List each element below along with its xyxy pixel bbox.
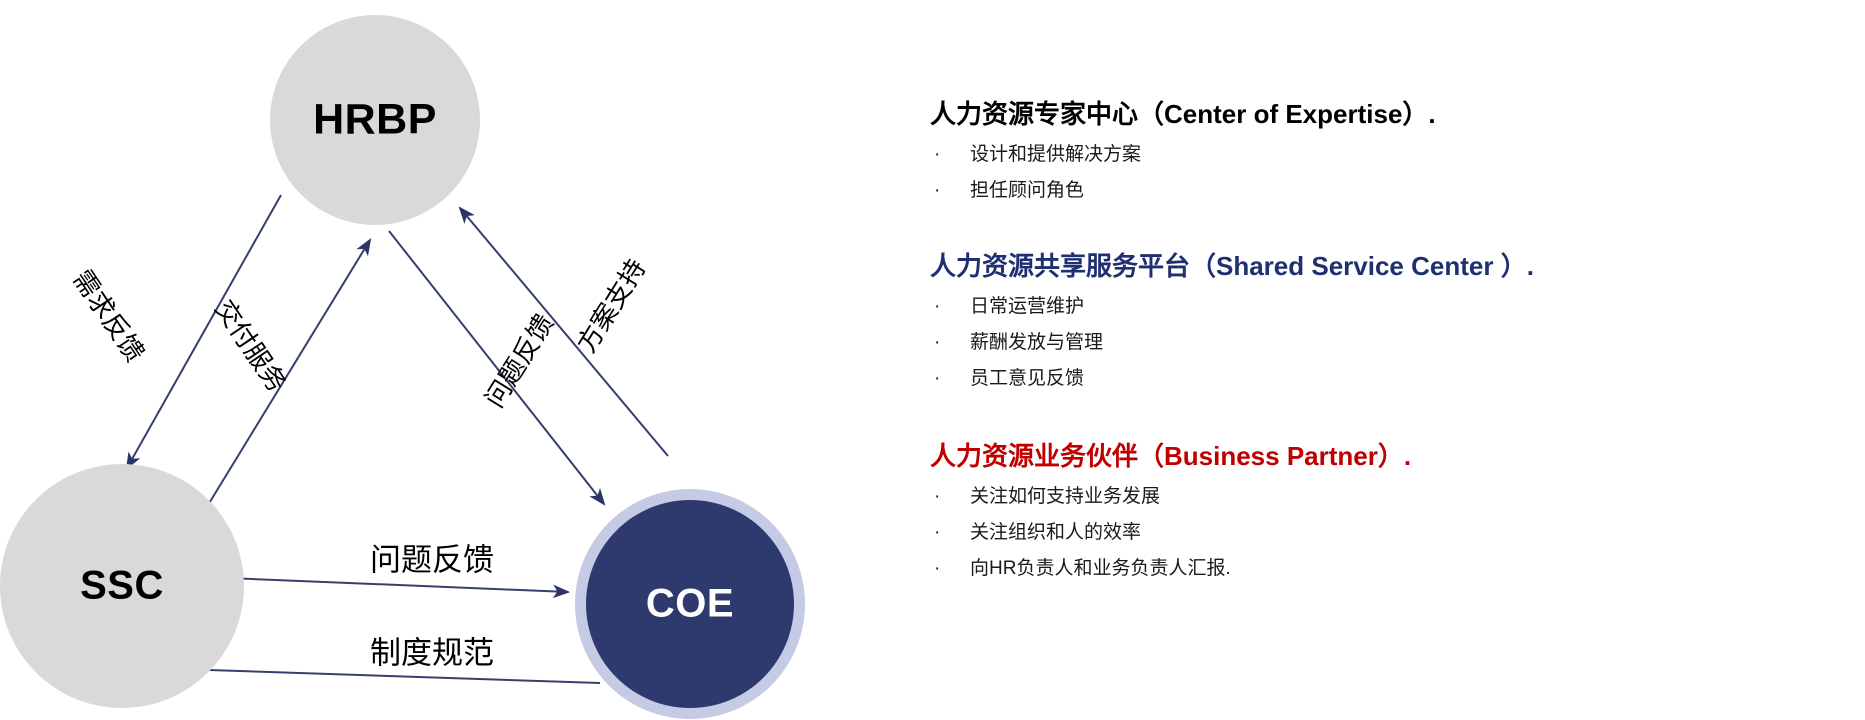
bullet-list-center-of-expertise: · 设计和提供解决方案 · 担任顾问角色 xyxy=(930,145,1830,200)
list-item: · 担任顾问角色 xyxy=(930,181,1830,200)
section-center-of-expertise: 人力资源专家中心（Center of Expertise）. · 设计和提供解决… xyxy=(930,98,1830,217)
list-item-label: 日常运营维护 xyxy=(970,296,1084,317)
edge-label-coe-to-ssc: 制度规范 xyxy=(370,628,494,673)
list-item: · 薪酬发放与管理 xyxy=(930,333,1830,352)
list-item: · 员工意见反馈 xyxy=(930,369,1830,388)
edge-ssc-coe xyxy=(228,578,568,592)
hr-three-pillar-diagram: HRBP SSC COE 需求反馈 交付服务 方案支持 问题反馈 问题反馈 制度… xyxy=(0,0,900,720)
list-item-label: 设计和提供解决方案 xyxy=(970,144,1141,165)
bullet-dot-icon: · xyxy=(934,559,940,578)
bullet-list-shared-service-center: · 日常运营维护 · 薪酬发放与管理 · 员工意见反馈 xyxy=(930,297,1830,388)
list-item-label: 向HR负责人和业务负责人汇报. xyxy=(970,558,1231,579)
list-item: · 关注如何支持业务发展 xyxy=(930,487,1830,506)
list-item-label: 关注组织和人的效率 xyxy=(970,522,1141,543)
list-item-label: 薪酬发放与管理 xyxy=(970,332,1103,353)
list-item-label: 担任顾问角色 xyxy=(970,180,1084,201)
section-shared-service-center: 人力资源共享服务平台（Shared Service Center ）. · 日常… xyxy=(930,250,1830,405)
bullet-dot-icon: · xyxy=(934,181,940,200)
edge-label-ssc-to-coe: 问题反馈 xyxy=(370,535,494,580)
heading-center-of-expertise: 人力资源专家中心（Center of Expertise）. xyxy=(930,98,1830,131)
list-item: · 关注组织和人的效率 xyxy=(930,523,1830,542)
bullet-dot-icon: · xyxy=(934,523,940,542)
slide-canvas: HRBP SSC COE 需求反馈 交付服务 方案支持 问题反馈 问题反馈 制度… xyxy=(0,0,1865,720)
bullet-dot-icon: · xyxy=(934,145,940,164)
list-item: · 向HR负责人和业务负责人汇报. xyxy=(930,559,1830,578)
descriptions-pane: 人力资源专家中心（Center of Expertise）. · 设计和提供解决… xyxy=(930,0,1860,720)
list-item-label: 员工意见反馈 xyxy=(970,368,1084,389)
bullet-dot-icon: · xyxy=(934,297,940,316)
edge-coe-hrbp xyxy=(460,208,668,456)
list-item-label: 关注如何支持业务发展 xyxy=(970,486,1160,507)
bullet-dot-icon: · xyxy=(934,333,940,352)
heading-shared-service-center: 人力资源共享服务平台（Shared Service Center ）. xyxy=(930,250,1830,283)
bullet-list-business-partner: · 关注如何支持业务发展 · 关注组织和人的效率 · 向HR负责人和业务负责人汇… xyxy=(930,487,1830,578)
node-ssc-circle[interactable] xyxy=(0,464,244,708)
list-item: · 日常运营维护 xyxy=(930,297,1830,316)
list-item: · 设计和提供解决方案 xyxy=(930,145,1830,164)
bullet-dot-icon: · xyxy=(934,369,940,388)
node-coe-circle[interactable] xyxy=(586,500,794,708)
node-group xyxy=(0,15,805,719)
node-hrbp-circle[interactable] xyxy=(270,15,480,225)
heading-business-partner: 人力资源业务伙伴（Business Partner）. xyxy=(930,440,1830,473)
section-business-partner: 人力资源业务伙伴（Business Partner）. · 关注如何支持业务发展… xyxy=(930,440,1830,595)
bullet-dot-icon: · xyxy=(934,487,940,506)
